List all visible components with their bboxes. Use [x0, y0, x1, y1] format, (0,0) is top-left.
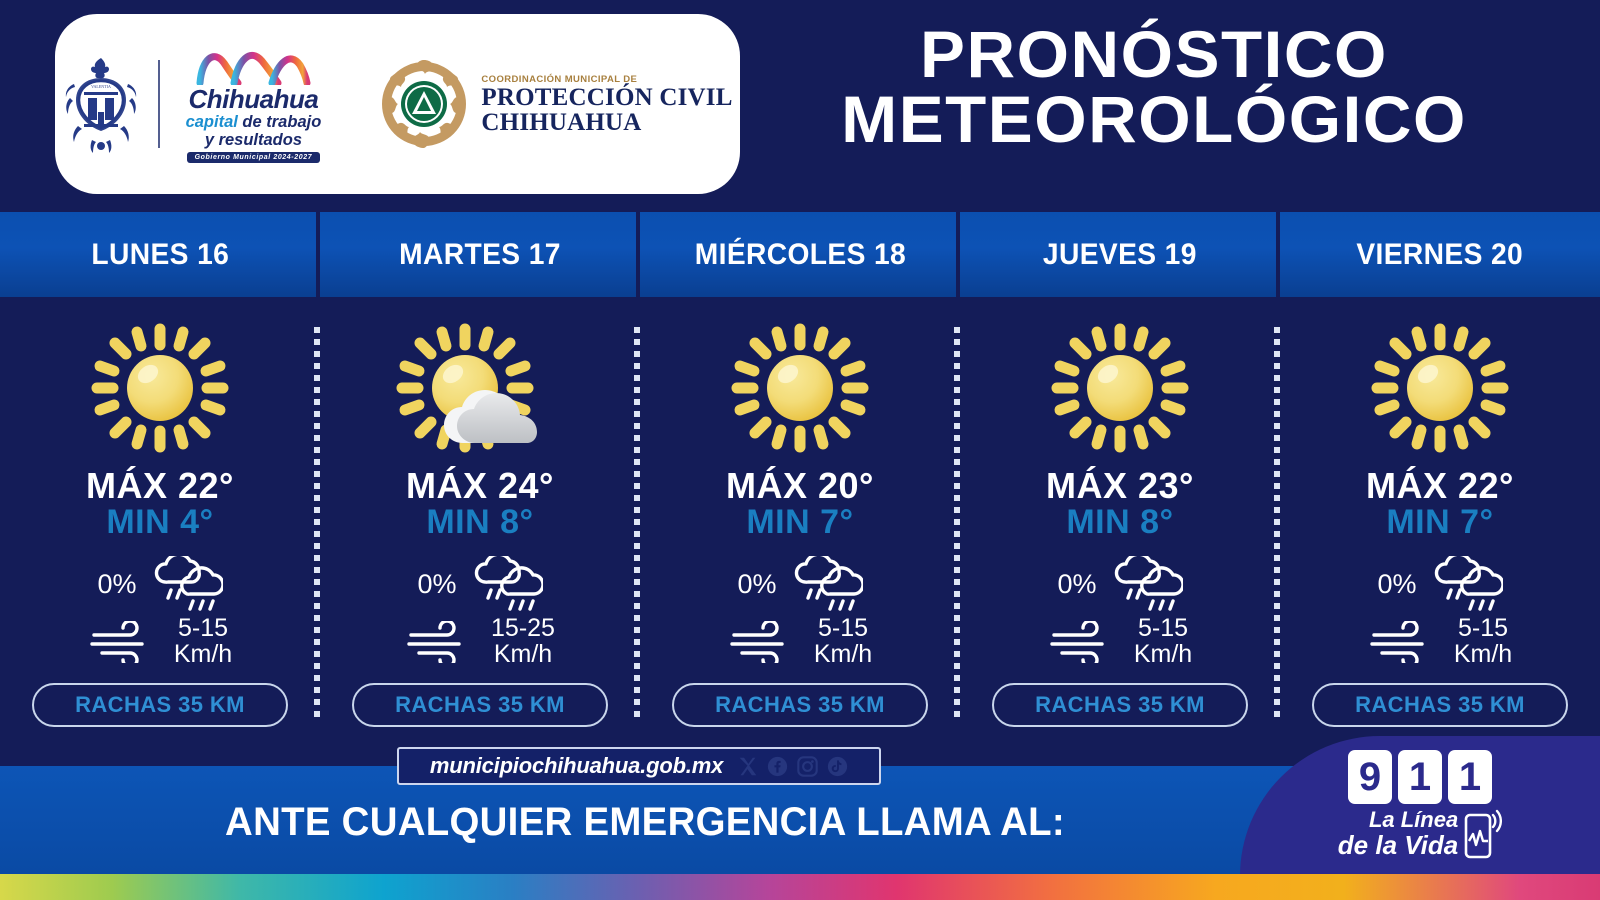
temperature-block: MÁX 23° MIN 8° — [1046, 467, 1194, 540]
precip-value: 0% — [1377, 571, 1416, 599]
wind-icon — [405, 621, 477, 663]
911-tagline-line2: de la Vida — [1338, 832, 1458, 858]
wind-speed: 5-15 — [174, 616, 232, 642]
wind-row: 5-15 Km/h — [676, 616, 924, 667]
forecast-card: MÁX 20° MIN 7° 0% — [640, 297, 960, 737]
proteccion-civil-logo-group: COORDINACIÓN MUNICIPAL DE PROTECCIÓN CIV… — [380, 60, 732, 148]
day-header-jueves: JUEVES 19 — [960, 212, 1280, 297]
phone-pulse-icon — [1462, 809, 1502, 861]
wind-unit: Km/h — [491, 642, 555, 668]
proteccion-civil-seal-icon — [380, 60, 468, 148]
wind-speed: 15-25 — [491, 616, 555, 642]
wind-unit: Km/h — [1134, 642, 1192, 668]
wind-unit: Km/h — [1454, 642, 1512, 668]
temperature-block: MÁX 22° MIN 7° — [1366, 467, 1514, 540]
weather-icon-wrap — [640, 313, 960, 463]
weather-icon-wrap — [0, 313, 320, 463]
social-icons — [737, 756, 848, 777]
911-tagline-line1: La Línea — [1338, 809, 1458, 831]
min-temp: MIN 7° — [1366, 504, 1514, 540]
min-temp: MIN 7° — [726, 504, 874, 540]
day-header-label: MIÉRCOLES 18 — [694, 238, 905, 272]
proteccion-civil-line2: CHIHUAHUA — [481, 110, 732, 135]
rain-cloud-icon — [471, 556, 543, 612]
911-digit: 9 — [1348, 750, 1392, 804]
gusts-badge: RACHAS 35 KM — [32, 683, 288, 727]
chihuahua-tagline-accent: capital — [186, 113, 238, 131]
day-header-miercoles: MIÉRCOLES 18 — [640, 212, 960, 297]
wind-icon — [728, 621, 800, 663]
911-digit: 1 — [1448, 750, 1492, 804]
911-panel: 9 1 1 La Línea de la Vida — [1240, 736, 1600, 876]
911-digit: 1 — [1398, 750, 1442, 804]
911-tagline-text: La Línea de la Vida — [1338, 809, 1458, 858]
min-temp: MIN 8° — [1046, 504, 1194, 540]
metrics-block: 0% — [36, 556, 284, 667]
precip-row: 0% — [676, 556, 924, 612]
wind-speed-block: 5-15 Km/h — [1454, 616, 1512, 667]
day-header-label: JUEVES 19 — [1043, 238, 1197, 272]
911-logo: 9 1 1 La Línea de la Vida — [1240, 736, 1600, 876]
instagram-icon[interactable] — [797, 756, 818, 777]
gusts-badge: RACHAS 35 KM — [672, 683, 928, 727]
wind-icon — [1368, 621, 1440, 663]
wind-icon — [1048, 621, 1120, 663]
sun-icon — [1365, 317, 1515, 459]
chihuahua-coat-of-arms-icon: VALENTIA — [62, 54, 140, 154]
day-header-label: MARTES 17 — [399, 238, 561, 272]
gusts-badge: RACHAS 35 KM — [992, 683, 1248, 727]
page-title-line2: METEOROLÓGICO — [746, 87, 1562, 152]
max-temp: MÁX 20° — [726, 467, 874, 504]
page-title-line1: PRONÓSTICO — [746, 22, 1562, 87]
day-header-row: LUNES 16 MARTES 17 MIÉRCOLES 18 JUEVES 1… — [0, 212, 1600, 297]
weather-icon-wrap — [320, 313, 640, 463]
day-header-label: VIERNES 20 — [1357, 238, 1524, 272]
header-band: VALENTIA — [0, 0, 1600, 212]
max-temp: MÁX 22° — [1366, 467, 1514, 504]
chihuahua-brand-logo: Chihuahua capital de trabajo y resultado… — [178, 45, 328, 163]
chihuahua-tagline-rest: de trabajo — [238, 113, 321, 131]
weather-icon-wrap — [960, 313, 1280, 463]
wind-speed-block: 5-15 Km/h — [174, 616, 232, 667]
website-bar[interactable]: municipiochihuahua.gob.mx — [397, 747, 881, 785]
logo-divider — [158, 60, 160, 148]
max-temp: MÁX 24° — [406, 467, 554, 504]
rain-cloud-icon — [1111, 556, 1183, 612]
weather-icon-wrap — [1280, 313, 1600, 463]
chihuahua-name: Chihuahua — [189, 86, 319, 112]
rain-cloud-icon — [791, 556, 863, 612]
rainbow-strip — [0, 874, 1600, 900]
sun-icon — [1045, 317, 1195, 459]
temperature-block: MÁX 20° MIN 7° — [726, 467, 874, 540]
infographic-root: VALENTIA — [0, 0, 1600, 900]
sun-icon — [85, 317, 235, 459]
max-temp: MÁX 23° — [1046, 467, 1194, 504]
sun-cloud-icon — [395, 317, 565, 459]
wind-unit: Km/h — [814, 642, 872, 668]
precip-value: 0% — [1057, 571, 1096, 599]
wind-speed: 5-15 — [1134, 616, 1192, 642]
chihuahua-waves-icon — [194, 45, 312, 85]
temperature-block: MÁX 24° MIN 8° — [406, 467, 554, 540]
precip-value: 0% — [737, 571, 776, 599]
svg-text:VALENTIA: VALENTIA — [92, 84, 112, 89]
day-header-viernes: VIERNES 20 — [1280, 212, 1600, 297]
chihuahua-gov-badge: Gobierno Municipal 2024-2027 — [187, 152, 321, 163]
rain-cloud-icon — [1431, 556, 1503, 612]
x-icon[interactable] — [737, 756, 758, 777]
chihuahua-tagline-line2: capital de trabajo — [186, 114, 322, 131]
911-number: 9 1 1 — [1348, 750, 1492, 804]
proteccion-civil-line1: PROTECCIÓN CIVIL — [481, 85, 732, 110]
metrics-block: 0% — [1316, 556, 1564, 667]
metrics-block: 0% — [676, 556, 924, 667]
day-header-lunes: LUNES 16 — [0, 212, 320, 297]
wind-speed-block: 5-15 Km/h — [1134, 616, 1192, 667]
emergency-text: ANTE CUALQUIER EMERGENCIA LLAMA AL: — [26, 800, 1264, 845]
precip-row: 0% — [36, 556, 284, 612]
precip-row: 0% — [996, 556, 1244, 612]
wind-row: 5-15 Km/h — [996, 616, 1244, 667]
chihuahua-tagline-line3: y resultados — [205, 132, 302, 149]
max-temp: MÁX 22° — [86, 467, 234, 504]
proteccion-civil-text: COORDINACIÓN MUNICIPAL DE PROTECCIÓN CIV… — [481, 74, 732, 135]
wind-speed-block: 5-15 Km/h — [814, 616, 872, 667]
metrics-block: 0% — [996, 556, 1244, 667]
day-header-martes: MARTES 17 — [320, 212, 640, 297]
facebook-icon[interactable] — [767, 756, 788, 777]
wind-speed: 5-15 — [814, 616, 872, 642]
temperature-block: MÁX 22° MIN 4° — [86, 467, 234, 540]
forecast-card: MÁX 24° MIN 8° 0% — [320, 297, 640, 737]
precip-row: 0% — [1316, 556, 1564, 612]
gusts-badge: RACHAS 35 KM — [1312, 683, 1568, 727]
911-tagline: La Línea de la Vida — [1338, 809, 1502, 861]
tiktok-icon[interactable] — [827, 756, 848, 777]
wind-speed-block: 15-25 Km/h — [491, 616, 555, 667]
gusts-badge: RACHAS 35 KM — [352, 683, 608, 727]
wind-row: 15-25 Km/h — [356, 616, 604, 667]
min-temp: MIN 8° — [406, 504, 554, 540]
wind-row: 5-15 Km/h — [36, 616, 284, 667]
municipal-logo-group: VALENTIA — [62, 45, 328, 163]
wind-speed: 5-15 — [1454, 616, 1512, 642]
forecast-card: MÁX 22° MIN 7° 0% — [1280, 297, 1600, 737]
logo-card: VALENTIA — [55, 14, 740, 194]
precip-value: 0% — [417, 571, 456, 599]
day-header-label: LUNES 16 — [91, 238, 229, 272]
wind-unit: Km/h — [174, 642, 232, 668]
precip-row: 0% — [356, 556, 604, 612]
page-title: PRONÓSTICO METEOROLÓGICO — [746, 22, 1562, 153]
metrics-block: 0% — [356, 556, 604, 667]
precip-value: 0% — [97, 571, 136, 599]
forecast-cards: MÁX 22° MIN 4° 0% — [0, 297, 1600, 737]
website-url[interactable]: municipiochihuahua.gob.mx — [430, 753, 723, 779]
sun-icon — [725, 317, 875, 459]
forecast-card: MÁX 23° MIN 8° 0% — [960, 297, 1280, 737]
wind-icon — [88, 621, 160, 663]
min-temp: MIN 4° — [86, 504, 234, 540]
forecast-card: MÁX 22° MIN 4° 0% — [0, 297, 320, 737]
proteccion-civil-sub: COORDINACIÓN MUNICIPAL DE — [481, 74, 732, 85]
rain-cloud-icon — [151, 556, 223, 612]
wind-row: 5-15 Km/h — [1316, 616, 1564, 667]
